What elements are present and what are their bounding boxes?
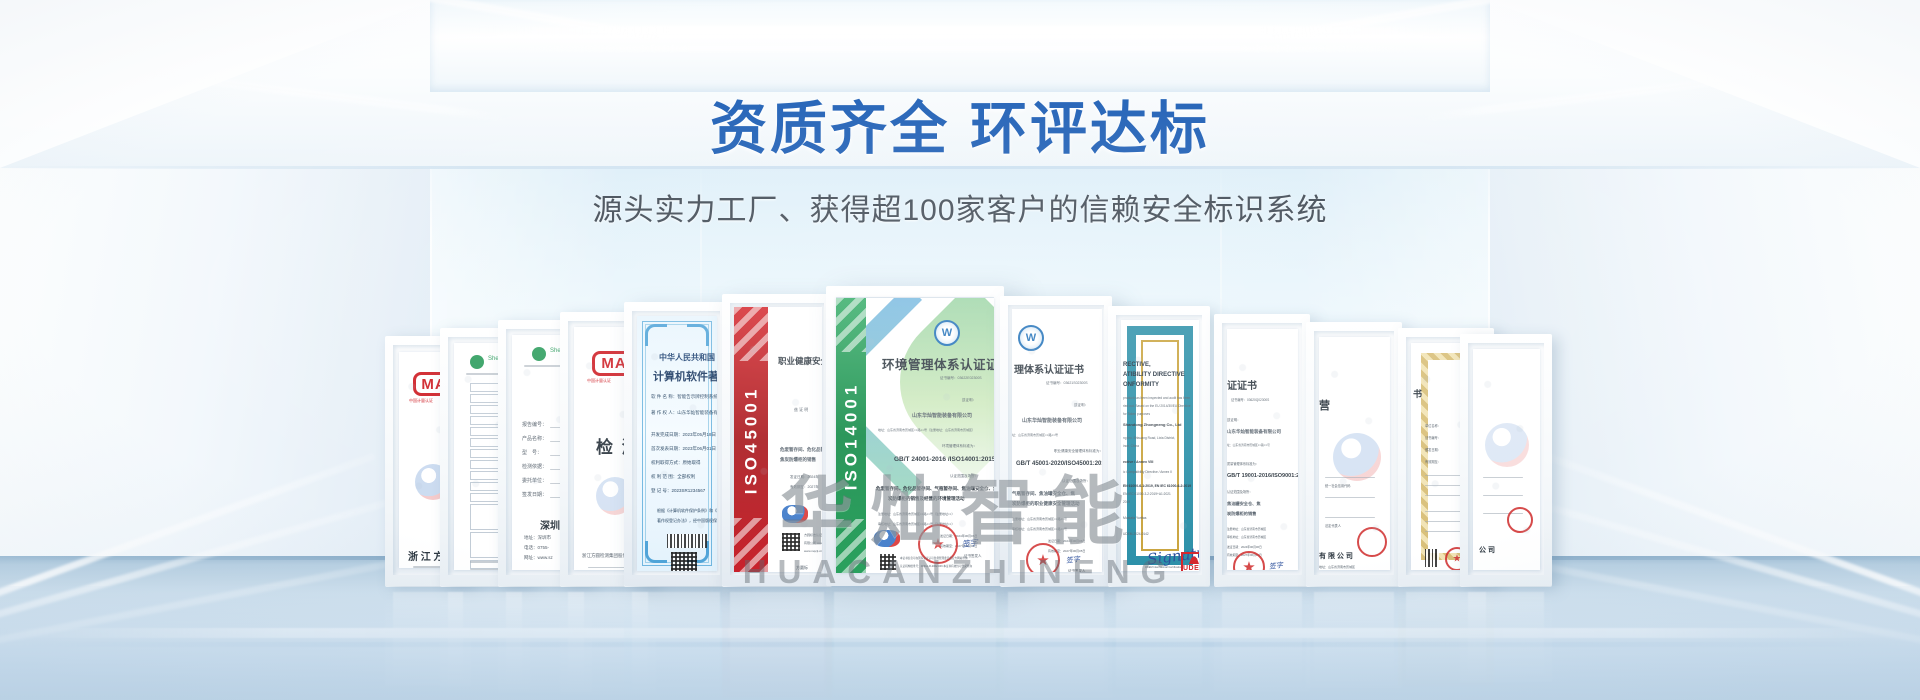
certificate-company: 有 限 公 司 xyxy=(1319,551,1353,561)
title-part-1: 资质齐全 xyxy=(710,97,950,161)
signature: 签字 xyxy=(961,537,978,550)
accreditation-logo xyxy=(874,530,900,547)
floor-shadow-band xyxy=(0,642,1920,647)
ma-logo-sub: 中国计量认证 xyxy=(409,398,433,404)
certificate-company: 山东华灿智能装备有限公司 xyxy=(912,412,972,419)
certificate-frame[interactable]: 公 司 xyxy=(1460,334,1552,586)
certificate-paper: 营 统一社会信用代码 法定代表人 有 限 公 司 地址：山东省济南市历城区 xyxy=(1319,337,1390,570)
certificate-frame[interactable]: 营 统一社会信用代码 法定代表人 有 限 公 司 地址：山东省济南市历城区 xyxy=(1306,322,1402,586)
certificate-paper: 中华人民共和国 计算机软件著作权登记证书 软 件 名 称：智能告示牌控制系统 V… xyxy=(637,316,717,571)
certification-emblem: W xyxy=(1018,325,1044,351)
certificate-frame[interactable]: RECTIVE, ATIBILITY DIRECTIVE ONFORMITY p… xyxy=(1108,306,1210,586)
certificate-paper: 证证书 证书编号：03620Q02300S 兹证明： 山东华灿智能装备有限公司 … xyxy=(1227,329,1298,570)
barcode xyxy=(1425,549,1439,567)
certificate-paper: ISO45001 职业健康安全 兹 证 明 危废暂存间、危化品暂存 焦炭防爆柜的… xyxy=(734,307,822,572)
certificate-paper: 公 司 xyxy=(1473,349,1540,570)
floor-highlight-band xyxy=(0,628,1920,638)
certificate-standard: GB/T 45001-2020/ISO45001:2018 xyxy=(1016,461,1102,467)
certificate-title: 证证书 xyxy=(1227,377,1257,392)
certificate-paper: RECTIVE, ATIBILITY DIRECTIVE ONFORMITY p… xyxy=(1121,320,1199,571)
certificate-title: 理体系认证证书 xyxy=(1014,361,1084,376)
certificate-company: 山东华灿智能装备有限公司 xyxy=(1022,417,1082,424)
ma-logo-sub: 中国计量认证 xyxy=(587,378,611,384)
certificate-title: 环境管理体系认证证书 xyxy=(882,354,994,373)
banner-headings: 资质齐全环评达标 源头实力工厂、获得超100家客户的信赖安全标识系统 xyxy=(0,96,1920,229)
certification-banner: 资质齐全环评达标 源头实力工厂、获得超100家客户的信赖安全标识系统 MA 中国… xyxy=(0,0,1920,700)
certificate-frame[interactable]: 证证书 证书编号：03620Q02300S 兹证明： 山东华灿智能装备有限公司 … xyxy=(1214,314,1310,586)
iso14001-label: ISO14001 xyxy=(841,381,861,490)
certificate-frame[interactable]: ISO14001 W 环境管理体系认证证书 证书编号：03622E02300S … xyxy=(826,286,1004,586)
official-seal xyxy=(1357,527,1387,557)
iso45001-label: ISO45001 xyxy=(741,385,761,494)
official-seal: ★ xyxy=(1026,543,1060,572)
signature: 签字 xyxy=(1268,560,1283,570)
iso14001-spine: ISO14001 xyxy=(836,298,866,573)
page-subtitle: 源头实力工厂、获得超100家客户的信赖安全标识系统 xyxy=(0,185,1920,229)
certificate-frame[interactable]: W 理体系认证证书 证书编号：03621S02300S 兹证明： 山东华灿智能装… xyxy=(1000,296,1112,586)
certificate-paper: ISO14001 W 环境管理体系认证证书 证书编号：03622E02300S … xyxy=(836,298,994,573)
certificate-frame[interactable]: 中华人民共和国 计算机软件著作权登记证书 软 件 名 称：智能告示牌控制系统 V… xyxy=(624,302,728,586)
udem-mark: UDEM xyxy=(1181,552,1199,571)
certificate-title: 计算机软件著作权登记证书 xyxy=(653,368,717,384)
certificate-title: 书 xyxy=(1413,387,1422,400)
certificate-paper: W 理体系认证证书 证书编号：03621S02300S 兹证明： 山东华灿智能装… xyxy=(1012,309,1102,572)
official-seal xyxy=(1507,507,1533,533)
iso45001-spine: ISO45001 xyxy=(734,307,768,572)
certificate-gallery: MA 中国计量认证 浙 江 方 圆 Shenzhen xyxy=(0,286,1920,586)
certificate-standard: GB/T 24001-2016 /ISO14001:2015 xyxy=(894,456,994,463)
qr-code xyxy=(782,533,800,551)
barcode xyxy=(667,534,707,548)
certificate-title: 营 xyxy=(1319,397,1330,413)
signature: 签字 xyxy=(1065,554,1080,566)
certificate-standard: GB/T 19001-2016/ISO9001:2015 xyxy=(1227,473,1298,479)
page-title: 资质齐全环评达标 xyxy=(0,96,1920,163)
title-part-2: 环评达标 xyxy=(970,97,1210,161)
ceiling-cove xyxy=(430,0,1490,92)
accreditation-logo xyxy=(782,505,808,523)
qr-code xyxy=(880,554,896,570)
certificate-company: 公 司 xyxy=(1479,545,1495,555)
certificate-frame[interactable]: ISO45001 职业健康安全 兹 证 明 危废暂存间、危化品暂存 焦炭防爆柜的… xyxy=(722,294,832,586)
certificate-title: 职业健康安全 xyxy=(778,355,822,367)
certification-emblem: W xyxy=(934,320,960,346)
certificate-company: 山东华灿智能装备有限公司 xyxy=(1227,429,1281,435)
certificate-address: 地址：山东省济南市历城区××路××号（注册地址：山东省济南市历城区） xyxy=(878,428,975,432)
qr-code xyxy=(671,552,697,571)
certificate-header: 中华人民共和国 xyxy=(659,352,715,363)
